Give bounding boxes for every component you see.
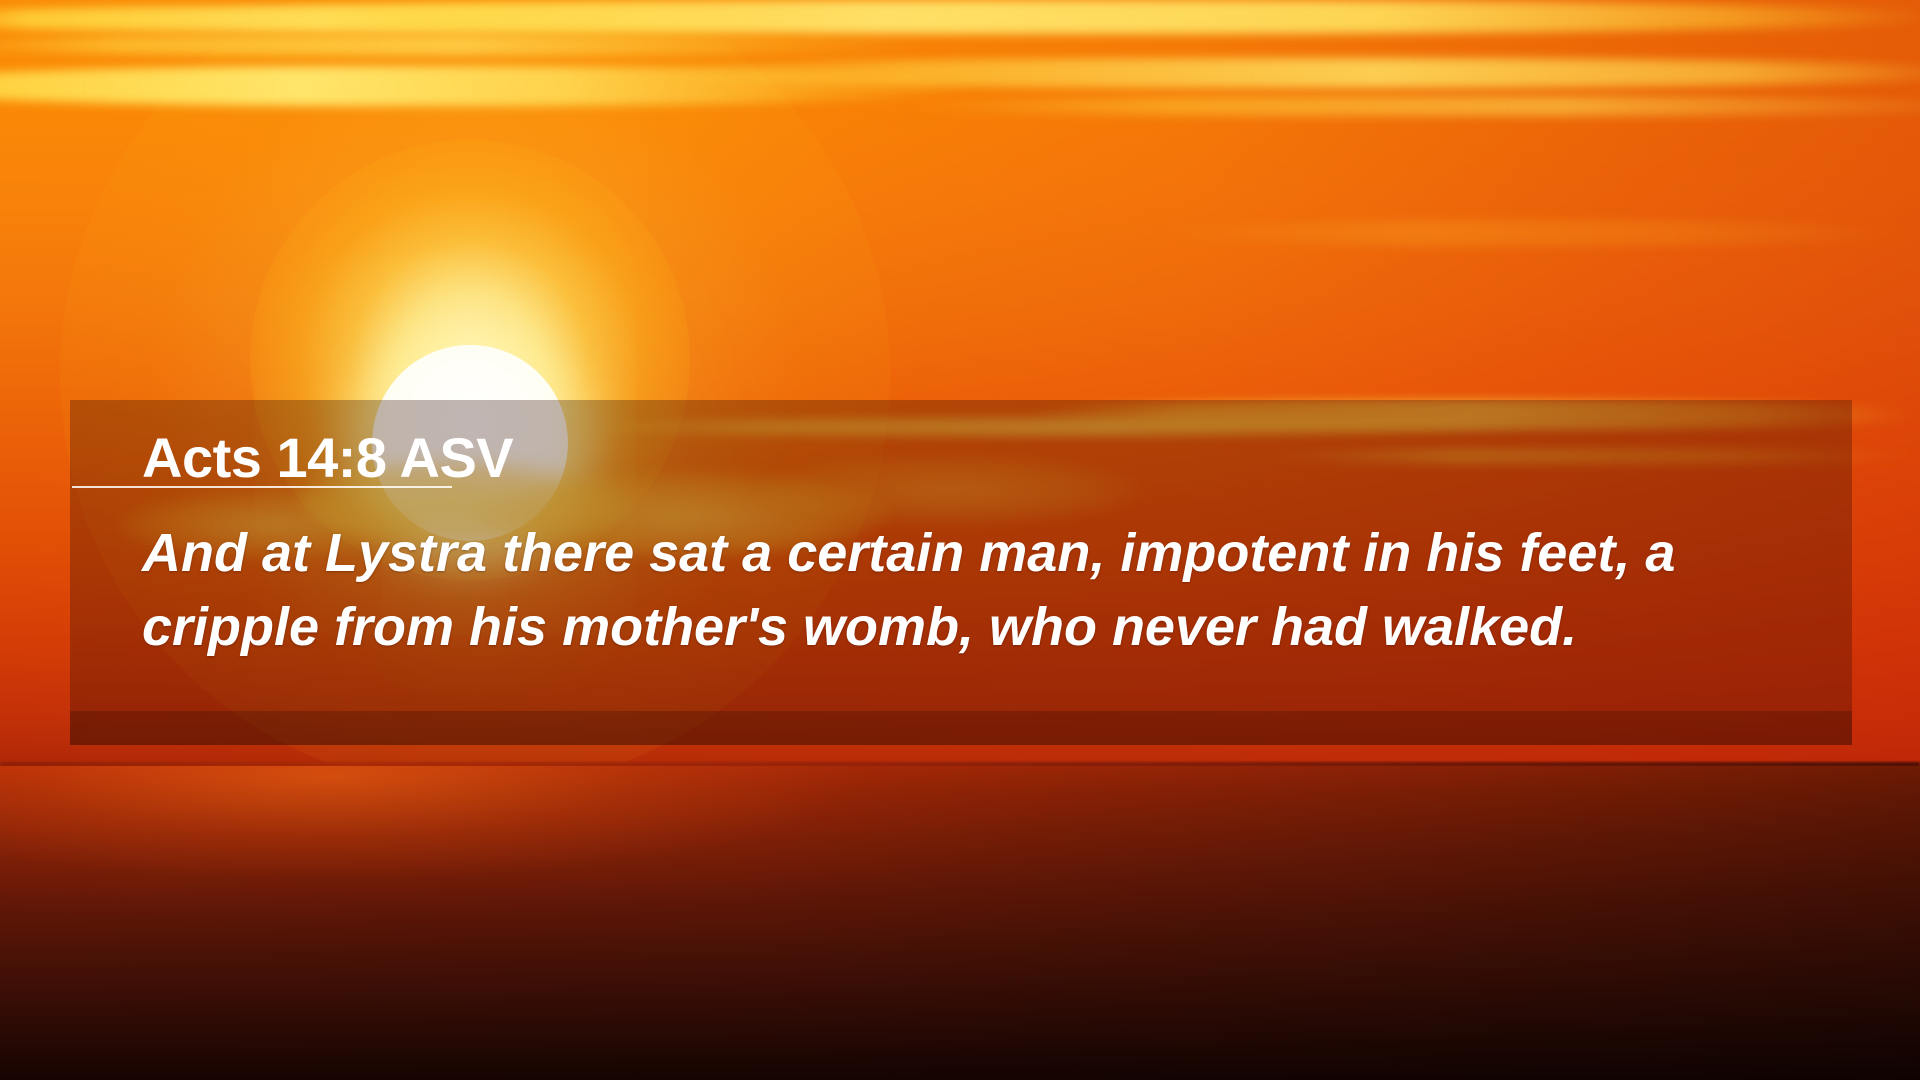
verse-reference-underline — [72, 486, 452, 488]
cloud-streak-top-3 — [0, 34, 940, 56]
verse-overlay-panel: Acts 14:8 ASV And at Lystra there sat a … — [70, 400, 1852, 745]
cloud-streak-top-6 — [900, 96, 1920, 116]
ocean-shadow — [0, 766, 1920, 1080]
cloud-streak-top-5 — [640, 58, 1920, 88]
cloud-streak-top-2 — [180, 0, 1920, 34]
verse-text: And at Lystra there sat a certain man, i… — [142, 516, 1796, 664]
cloud-streak-mid — [1150, 220, 1910, 246]
verse-image-scene: Acts 14:8 ASV And at Lystra there sat a … — [0, 0, 1920, 1080]
verse-reference: Acts 14:8 ASV — [142, 430, 513, 486]
